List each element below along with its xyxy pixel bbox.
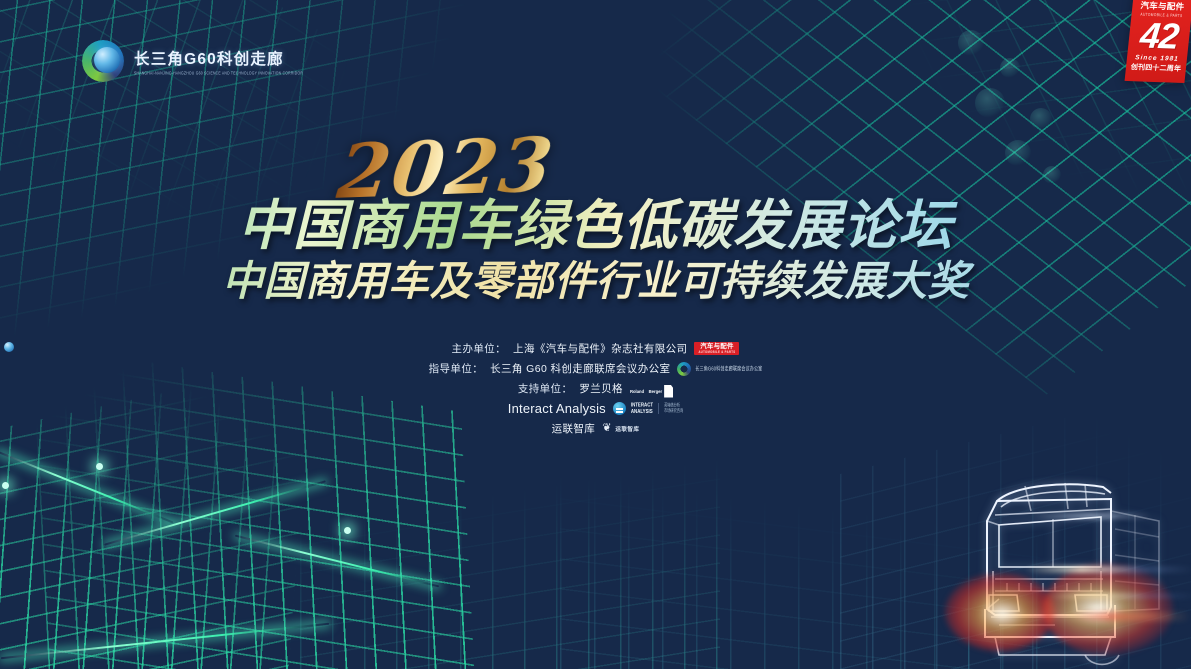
badge-brand-cn: 汽车与配件	[1140, 0, 1185, 13]
ia-logo-line2: ANALYSIS	[631, 409, 653, 416]
credit-value: 上海《汽车与配件》杂志社有限公司	[513, 341, 687, 356]
g60-small-logo-text: 长三角G60科创走廊联席会议办公室	[695, 364, 762, 372]
credit-row-advisor: 指导单位： 长三角 G60 科创走廊联席会议办公室 长三角G60科创走廊联席会议…	[429, 360, 763, 377]
poster-canvas: 长三角G60科创走廊 SHANGHAI-NANJING-HANGZHOU G60…	[0, 0, 1191, 669]
credit-row-interact-analysis: Interact Analysis INTERACT ANALYSIS 英特络分…	[508, 400, 683, 417]
credit-value: 运联智库	[552, 421, 596, 436]
anniversary-badge: 汽车与配件 AUTOMOBILE & PARTS 42 Since 1981 创…	[1125, 0, 1191, 83]
g60-corridor-logo: 长三角G60科创走廊 SHANGHAI-NANJING-HANGZHOU G60…	[82, 40, 303, 82]
credit-row-yunlian: 运联智库 ❦ 运联智库	[552, 420, 640, 437]
bokeh-dot-icon	[975, 88, 1005, 118]
credit-label: 主办单位：	[452, 341, 507, 356]
aap-logo-text-en: AUTOMOBILE & PARTS	[698, 350, 735, 354]
bokeh-dot-icon	[958, 30, 984, 56]
g60-logo-name-en: SHANGHAI-NANJING-HANGZHOU G60 SCIENCE AN…	[134, 71, 303, 76]
credit-row-supporter: 支持单位： 罗兰贝格 Roland Berger	[518, 380, 673, 397]
ia-logo-divider	[658, 403, 659, 414]
badge-anniversary-number: 42	[1139, 17, 1181, 54]
roland-berger-logo-icon: Roland Berger	[630, 380, 673, 398]
bokeh-dot-icon	[1030, 108, 1052, 130]
wireframe-truck-icon	[935, 459, 1185, 669]
g60-swirl-logo-icon	[82, 40, 124, 82]
badge-anniversary-cn: 创刊四十二周年	[1130, 62, 1181, 74]
wireframe-mountain-3-icon	[300, 426, 720, 669]
ridge-peak-dot-icon	[344, 527, 351, 534]
yunlian-think-tank-logo-icon: ❦ 运联智库	[602, 423, 639, 434]
interact-analysis-logo-icon: INTERACT ANALYSIS 英特络分析 市场研究咨询	[613, 402, 683, 415]
yunlian-logo-text: 运联智库	[615, 425, 639, 433]
yunlian-logo-glyph-icon: ❦	[602, 423, 611, 434]
automobile-and-parts-logo-icon: 汽车与配件 AUTOMOBILE & PARTS	[694, 342, 739, 355]
title-block: 2023 中国商用车绿色低碳发展论坛 中国商用车及零部件行业可持续发展大奖	[0, 138, 1191, 305]
ridge-glow-icon	[235, 535, 439, 588]
ridge-glow-icon	[0, 450, 173, 523]
rb-logo-block-icon	[664, 385, 673, 398]
g60-corridor-logo-icon: 长三角G60科创走廊联席会议办公室	[677, 362, 762, 376]
credits-block: 主办单位： 上海《汽车与配件》杂志社有限公司 汽车与配件 AUTOMOBILE …	[0, 340, 1191, 437]
ia-logo-circle-icon	[613, 402, 626, 415]
ridge-peak-dot-icon	[96, 463, 103, 470]
rb-logo-line2: Berger	[649, 389, 663, 394]
ridge-glow-icon	[104, 480, 326, 545]
g60-logo-name-cn: 长三角G60科创走廊	[134, 47, 303, 69]
bokeh-dot-icon	[1000, 58, 1020, 78]
ridge-glow-icon	[1, 623, 329, 659]
rb-logo-line1: Roland	[630, 389, 644, 394]
page-title: 中国商用车绿色低碳发展论坛	[0, 196, 1191, 256]
truck-headlight-left-glow-icon	[945, 573, 1055, 651]
ia-logo-cn2: 市场研究咨询	[664, 409, 683, 414]
credit-value: 长三角 G60 科创走廊联席会议办公室	[490, 361, 670, 376]
credit-label: 支持单位：	[518, 381, 573, 396]
credit-value: Interact Analysis	[508, 401, 606, 416]
credit-row-organizer: 主办单位： 上海《汽车与配件》杂志社有限公司 汽车与配件 AUTOMOBILE …	[452, 340, 740, 357]
credit-value: 罗兰贝格	[579, 381, 623, 396]
credit-label: 指导单位：	[429, 361, 484, 376]
truck-headlight-right-glow-icon	[1043, 563, 1173, 655]
page-subtitle: 中国商用车及零部件行业可持续发展大奖	[0, 258, 1191, 305]
ridge-peak-dot-icon	[2, 482, 9, 489]
